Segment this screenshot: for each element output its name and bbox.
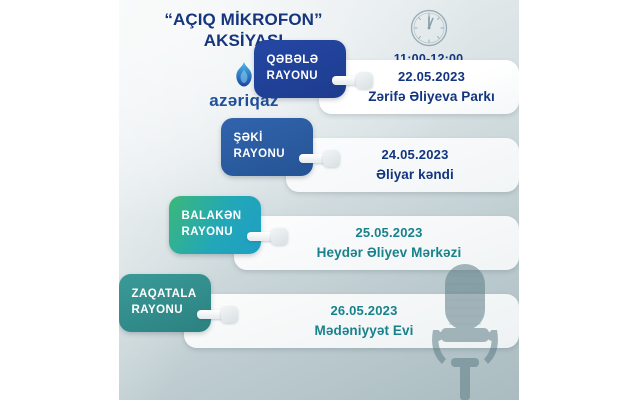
region-suffix: RAYONU [182,225,233,241]
region-name: BALAKƏN [182,209,242,225]
region-tag: QƏBƏLƏ RAYONU [254,40,346,98]
plug-connector-icon [299,150,341,167]
poster-canvas: “AÇIQ MİKROFON” AKSİYASI azəriqaz [0,0,637,400]
region-suffix: RAYONU [234,147,285,163]
event-row: 25.05.2023 Heydər Əliyev Mərkəzi BALAKƏN… [169,196,519,270]
event-place: Əliyar kəndi [376,165,454,185]
event-row: 24.05.2023 Əliyar kəndi ŞƏKİ RAYONU [221,118,519,192]
plug-nub [221,306,238,323]
region-tag: ZAQATALA RAYONU [119,274,211,332]
plug-connector-icon [332,72,374,89]
event-date: 26.05.2023 [330,302,397,321]
event-date: 22.05.2023 [398,68,465,87]
campaign-poster: “AÇIQ MİKROFON” AKSİYASI azəriqaz [119,0,519,400]
event-date: 25.05.2023 [355,224,422,243]
event-row: 26.05.2023 Mədəniyyət Evi ZAQATALA RAYON… [119,274,519,348]
plug-connector-icon [197,306,239,323]
event-place: Zərifə Əliyeva Parkı [368,87,495,107]
region-tag: ŞƏKİ RAYONU [221,118,313,176]
region-suffix: RAYONU [132,303,183,319]
event-place: Mədəniyyət Evi [315,321,414,341]
plug-nub [323,150,340,167]
region-suffix: RAYONU [267,69,318,85]
event-row: 22.05.2023 Zərifə Əliyeva Parkı QƏBƏLƏ R… [254,40,519,114]
plug-nub [271,228,288,245]
title-line-1: “AÇIQ MİKROFON” [164,10,322,29]
event-date: 24.05.2023 [381,146,448,165]
region-name: QƏBƏLƏ [267,53,319,69]
region-name: ZAQATALA [132,287,197,303]
region-name: ŞƏKİ [234,131,263,147]
flame-icon [232,62,256,88]
event-place: Heydər Əliyev Mərkəzi [317,243,462,263]
plug-nub [356,72,373,89]
region-tag: BALAKƏN RAYONU [169,196,261,254]
plug-connector-icon [247,228,289,245]
